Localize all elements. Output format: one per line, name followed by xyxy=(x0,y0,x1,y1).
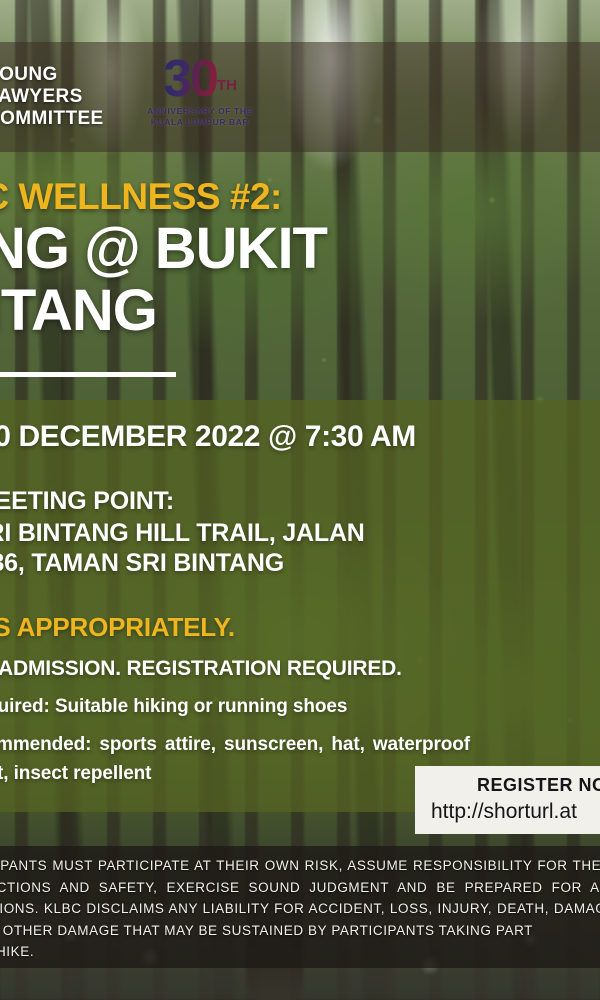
disclaimer-text: PARTICIPANTS MUST PARTICIPATE AT THEIR O… xyxy=(0,855,600,963)
meeting-point-address-line1: SRI BINTANG HILL TRAIL, JALAN xyxy=(0,519,365,547)
register-title: REGISTER NOW xyxy=(415,775,600,796)
poster-header: YOUNG LAWYERS COMMITTEE 30TH ANNIVERSARY… xyxy=(0,42,600,152)
dress-note: DRESS APPROPRIATELY. xyxy=(0,612,235,643)
anniversary-subtitle: ANNIVERSARY OF THE KUALA LUMPUR BAR xyxy=(140,106,260,128)
title-main-line2: BINTANG xyxy=(0,280,600,342)
disclaimer-tail: IN THE HIKE. xyxy=(0,941,600,963)
title-kicker: KLBC WELLNESS #2: xyxy=(0,176,600,218)
disclaimer-body: PARTICIPANTS MUST PARTICIPATE AT THEIR O… xyxy=(0,858,600,938)
logo-line-committee: COMMITTEE xyxy=(0,108,104,130)
event-datetime: 10 DECEMBER 2022 @ 7:30 AM xyxy=(0,420,416,454)
required-items: Required: Suitable hiking or running sho… xyxy=(0,696,347,718)
anniversary-logo: 30TH ANNIVERSARY OF THE KUALA LUMPUR BAR xyxy=(140,54,260,154)
recommended-items: Recommended: sports attire, sunscreen, h… xyxy=(0,730,470,788)
logo-line-young: YOUNG xyxy=(0,64,104,86)
title-underline-rule xyxy=(0,372,176,377)
register-url[interactable]: http://shorturl.at xyxy=(415,800,600,824)
anniversary-subtitle-line2: KUALA LUMPUR BAR xyxy=(140,117,260,128)
anniversary-subtitle-line1: ANNIVERSARY OF THE xyxy=(140,106,260,117)
anniversary-ordinal: TH xyxy=(217,77,237,94)
meeting-point-address: SRI BINTANG HILL TRAIL, JALAN 1/36, TAMA… xyxy=(0,518,600,578)
admission-note: FREE ADMISSION. REGISTRATION REQUIRED. xyxy=(0,657,402,681)
title-block: KLBC WELLNESS #2: HIKING @ BUKIT BINTANG xyxy=(0,176,600,342)
poster-canvas: YOUNG LAWYERS COMMITTEE 30TH ANNIVERSARY… xyxy=(0,0,600,1000)
anniversary-number: 30 xyxy=(163,54,217,104)
logo-line-lawyers: LAWYERS xyxy=(0,86,104,108)
meeting-point-address-line2: 1/36, TAMAN SRI BINTANG xyxy=(0,549,284,577)
young-lawyers-committee-logo: YOUNG LAWYERS COMMITTEE xyxy=(0,64,104,130)
register-panel[interactable]: REGISTER NOW http://shorturl.at xyxy=(415,766,600,834)
meeting-point-label: MEETING POINT: xyxy=(0,487,174,516)
title-main-line1: HIKING @ BUKIT xyxy=(0,218,600,280)
